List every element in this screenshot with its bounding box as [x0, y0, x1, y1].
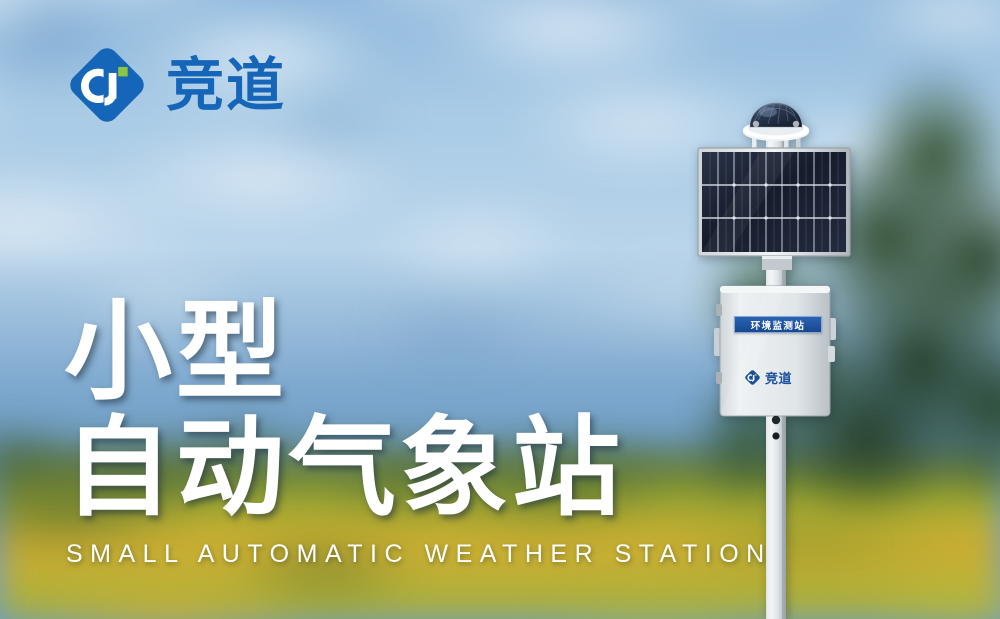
enclosure-brand-logo: 竞道 [744, 368, 792, 387]
title-line-2: 自动气象站 [64, 414, 624, 524]
weather-station-product: 环境监测站 竞道 [690, 28, 890, 619]
brand-logo[interactable]: 竞道 [64, 42, 286, 128]
enclosure-brand-name: 竞道 [765, 368, 792, 387]
title-line-1: 小型 [64, 298, 624, 408]
enclosure-banner-label: 环境监测站 [734, 316, 822, 333]
page-title: 小型 自动气象站 [64, 298, 624, 524]
enclosure-group [714, 286, 836, 424]
brand-name: 竞道 [166, 56, 286, 114]
product-hero-banner: 竞道 小型 自动气象站 SMALL AUTOMATIC WEATHER STAT… [0, 0, 1000, 619]
jingdao-diamond-logo-icon [64, 42, 150, 128]
page-subtitle: SMALL AUTOMATIC WEATHER STATION [66, 540, 772, 569]
solar-panel-group [698, 148, 850, 270]
jingdao-diamond-logo-icon [744, 369, 761, 386]
